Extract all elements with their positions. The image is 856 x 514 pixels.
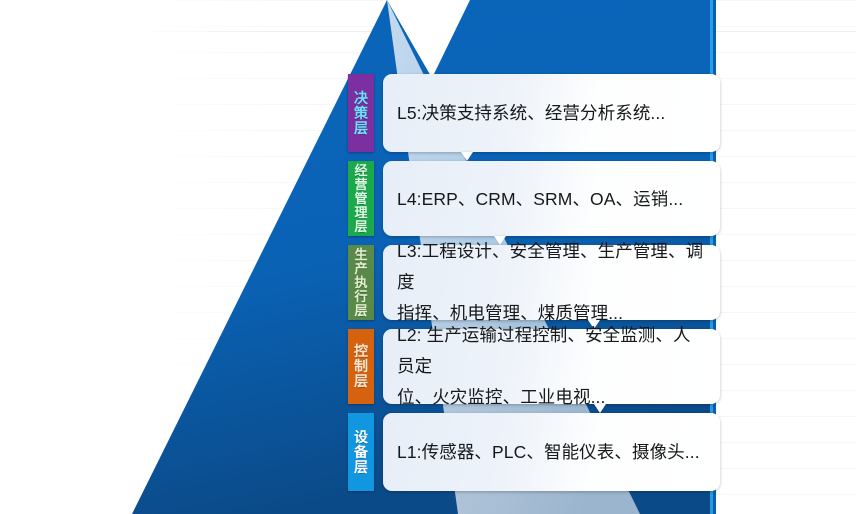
level-card-l3[interactable]: L3:工程设计、安全管理、生产管理、调度 指挥、机电管理、煤质管理...	[383, 245, 720, 320]
level-row-l1[interactable]: 设 备 层 L1:传感器、PLC、智能仪表、摄像头...	[348, 413, 720, 491]
level-tab-char: 管	[354, 192, 367, 206]
level-card-l4[interactable]: L4:ERP、CRM、SRM、OA、运销...	[383, 161, 720, 236]
chevron-down-icon	[461, 152, 473, 161]
level-tab-l1[interactable]: 设 备 层	[348, 413, 374, 491]
level-tab-char: 层	[354, 460, 368, 475]
level-tab-char: 层	[354, 121, 368, 136]
level-tab-char: 决	[354, 91, 368, 106]
level-tab-char: 控	[354, 344, 368, 359]
level-tab-l3[interactable]: 生 产 执 行 层	[348, 245, 374, 320]
level-tab-char: 备	[354, 445, 368, 460]
level-card-text: L1:传感器、PLC、智能仪表、摄像头...	[397, 437, 700, 467]
level-tab-char: 营	[354, 178, 367, 192]
level-card-l5[interactable]: L5:决策支持系统、经营分析系统...	[383, 74, 720, 152]
level-card-l1[interactable]: L1:传感器、PLC、智能仪表、摄像头...	[383, 413, 720, 491]
level-card-l2[interactable]: L2: 生产运输过程控制、安全监测、人员定 位、火灾监控、工业电视...	[383, 329, 720, 404]
level-tab-char: 生	[354, 248, 367, 262]
level-tab-char: 行	[354, 290, 367, 304]
level-card-text-line1: L2: 生产运输过程控制、安全监测、人员定	[397, 320, 706, 382]
level-tab-char: 层	[354, 374, 368, 389]
level-tab-char: 制	[354, 359, 368, 374]
level-row-l4[interactable]: 经 营 管 理 层 L4:ERP、CRM、SRM、OA、运销...	[348, 161, 720, 236]
level-tab-char: 设	[354, 430, 368, 445]
level-tab-char: 产	[354, 262, 367, 276]
level-tab-char: 层	[354, 220, 367, 234]
level-card-text: L4:ERP、CRM、SRM、OA、运销...	[397, 184, 683, 214]
level-tab-l2[interactable]: 控 制 层	[348, 329, 374, 404]
level-card-text-line2: 位、火灾监控、工业电视...	[397, 382, 706, 413]
level-tab-char: 经	[354, 164, 367, 178]
level-card-text: L5:决策支持系统、经营分析系统...	[397, 98, 665, 128]
level-row-l2[interactable]: 控 制 层 L2: 生产运输过程控制、安全监测、人员定 位、火灾监控、工业电视.…	[348, 329, 720, 404]
pyramid-level-list: 决 策 层 L5:决策支持系统、经营分析系统... 经 营 管 理 层 L4:E…	[348, 74, 720, 494]
chevron-down-icon	[594, 404, 606, 413]
level-tab-char: 策	[354, 106, 368, 121]
level-tab-l4[interactable]: 经 营 管 理 层	[348, 161, 374, 236]
level-row-l5[interactable]: 决 策 层 L5:决策支持系统、经营分析系统...	[348, 74, 720, 152]
level-tab-char: 执	[354, 276, 367, 290]
diagram-canvas: 决 策 层 L5:决策支持系统、经营分析系统... 经 营 管 理 层 L4:E…	[0, 0, 856, 514]
level-tab-l5[interactable]: 决 策 层	[348, 74, 374, 152]
level-tab-char: 层	[354, 304, 367, 318]
level-card-text-line1: L3:工程设计、安全管理、生产管理、调度	[397, 236, 706, 298]
level-tab-char: 理	[354, 206, 367, 220]
level-row-l3[interactable]: 生 产 执 行 层 L3:工程设计、安全管理、生产管理、调度 指挥、机电管理、煤…	[348, 245, 720, 320]
